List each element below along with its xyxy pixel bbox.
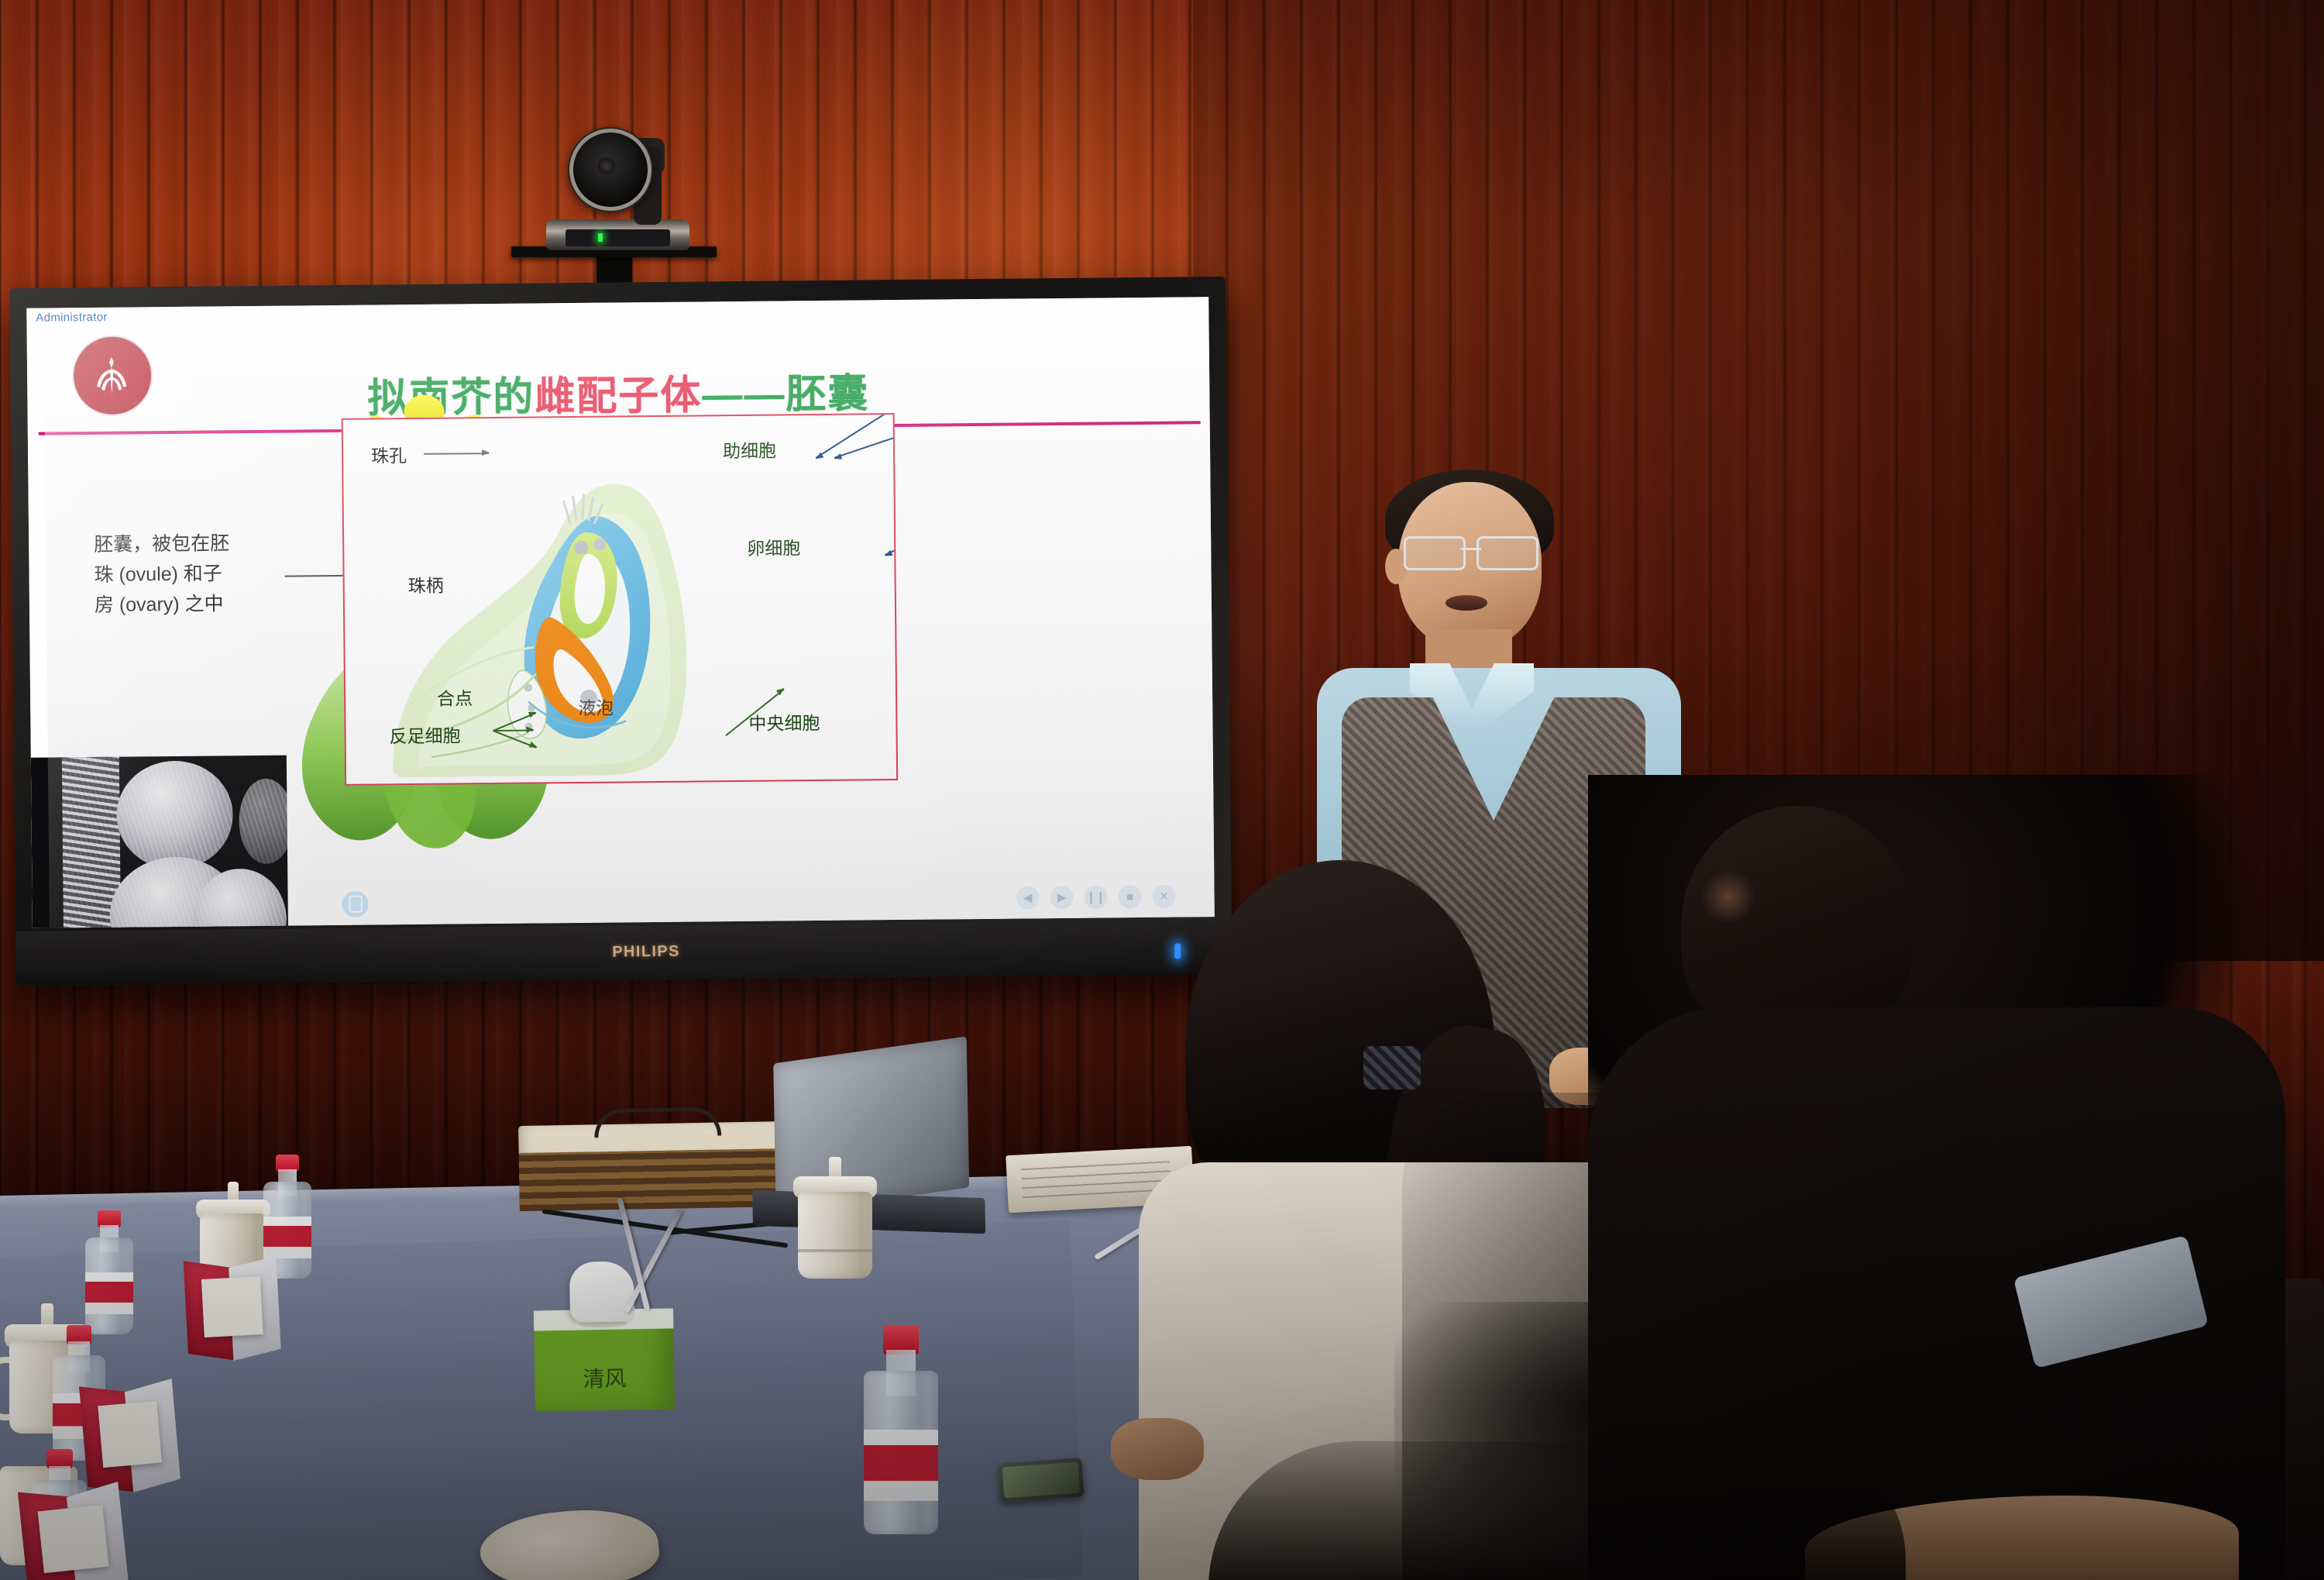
- water-bottle-center-near: [864, 1325, 938, 1534]
- camera-status-led: [598, 233, 603, 242]
- hair-clip: [1363, 1046, 1421, 1089]
- antipodal-arrow-1: [493, 730, 534, 731]
- title-part-3: ——胚囊: [702, 371, 870, 418]
- display-screen[interactable]: Administrator PEKING U: [26, 297, 1215, 928]
- home-icon[interactable]: [342, 891, 368, 917]
- wicker-basket: [518, 1121, 791, 1211]
- display-brand-label: PHILIPS: [612, 943, 680, 962]
- man-right-ear-highlight: [1701, 869, 1755, 924]
- label-chalaza: 合点: [437, 683, 473, 710]
- label-antipodal: 反足细胞: [389, 721, 460, 748]
- lens-left: [1404, 536, 1466, 570]
- phone-screen[interactable]: [1002, 1462, 1081, 1499]
- camera-lens-icon: [598, 157, 615, 174]
- back-icon[interactable]: ◀: [1016, 886, 1039, 909]
- philips-interactive-display[interactable]: Administrator PEKING U: [9, 277, 1232, 986]
- label-funiculus: 珠柄: [408, 571, 444, 597]
- basket-handle: [594, 1107, 722, 1138]
- lens-right: [1477, 536, 1538, 570]
- sem-texture-overlay: [31, 756, 289, 928]
- mug-knob: [41, 1303, 53, 1327]
- bottle-label: [864, 1430, 938, 1501]
- mug-band: [798, 1249, 872, 1252]
- placard-card: [98, 1401, 163, 1468]
- basket-weave: [519, 1148, 791, 1211]
- presentation-slide: Administrator PEKING U: [26, 297, 1215, 928]
- presenter-mouth: [1446, 595, 1487, 611]
- mug-knob: [228, 1182, 239, 1202]
- placard-card: [38, 1505, 108, 1574]
- name-placard-left: [184, 1261, 281, 1358]
- lidded-mug-center: [798, 1170, 872, 1279]
- conference-room-scene: Administrator PEKING U: [0, 0, 2324, 1580]
- bottle-label: [263, 1217, 311, 1258]
- eyeglasses-icon: [1402, 536, 1540, 567]
- tissue-box: 清风: [534, 1308, 675, 1411]
- woman-hand: [1111, 1418, 1204, 1480]
- play-icon[interactable]: ▶: [1050, 886, 1073, 909]
- bottle-label: [85, 1272, 133, 1314]
- foreground-shadow: [1208, 1441, 1906, 1580]
- mug-knob: [829, 1157, 841, 1179]
- tissue-sheet: [569, 1261, 634, 1322]
- water-bottle-left-mid: [85, 1210, 133, 1334]
- tissue-brand-label: 清风: [535, 1361, 675, 1394]
- label-synergid: 助细胞: [723, 436, 776, 463]
- label-egg-cell: 卵细胞: [747, 533, 800, 560]
- camera-base-face: [566, 229, 670, 246]
- label-vacuole: 液泡: [578, 694, 614, 720]
- name-placard-bottom: [19, 1487, 129, 1580]
- administrator-label: Administrator: [36, 311, 107, 325]
- sem-micrograph-ovules: [31, 756, 289, 928]
- label-central-cell: 中央细胞: [748, 708, 820, 735]
- embryo-sac-zoom-panel: 雌配子体 （7 细胞，其中两个雌配子） 珠孔 助细胞 卵细胞 珠柄 合点 反足细…: [342, 413, 899, 786]
- mug-cup: [798, 1192, 872, 1279]
- pause-icon[interactable]: ❙❙: [1084, 885, 1107, 908]
- name-placard-left-near: [80, 1383, 181, 1492]
- smartphone-foreground[interactable]: [998, 1458, 1084, 1502]
- placard-card: [201, 1276, 264, 1337]
- glasses-bridge: [1461, 548, 1481, 550]
- label-micropyle: 珠孔: [371, 441, 407, 467]
